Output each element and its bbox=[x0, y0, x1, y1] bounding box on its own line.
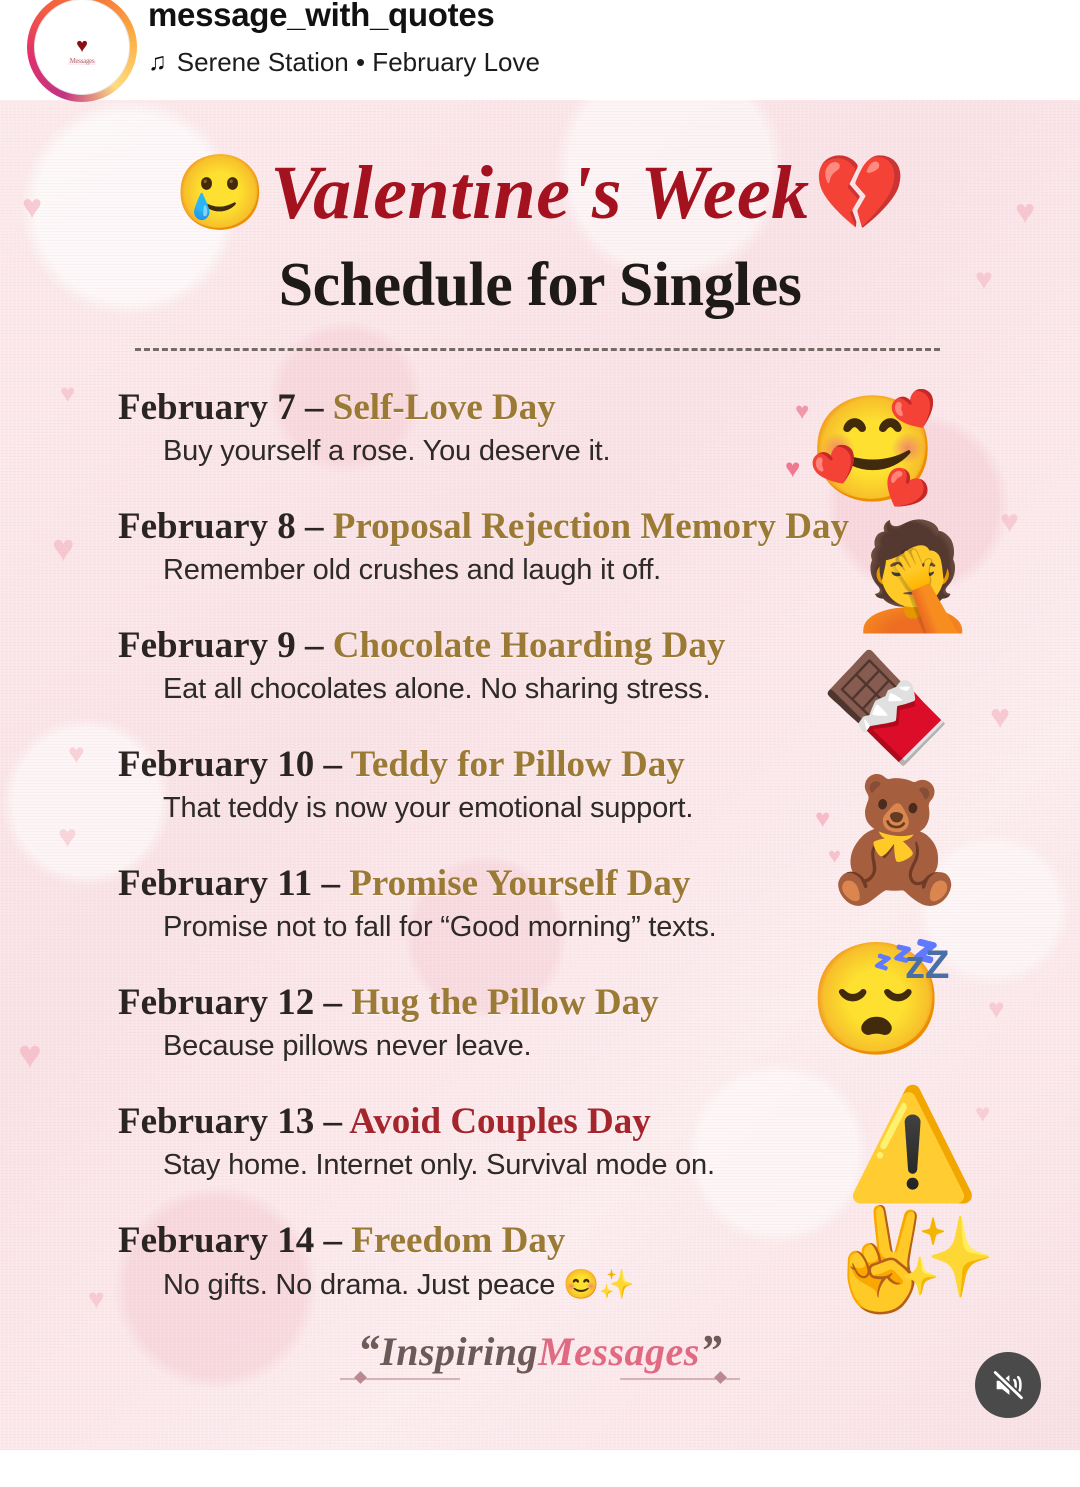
schedule-item-description: Stay home. Internet only. Survival mode … bbox=[163, 1149, 715, 1182]
schedule-item-dash: – bbox=[324, 1220, 343, 1261]
schedule-item-title: Teddy for Pillow Day bbox=[351, 744, 685, 785]
music-note-icon: ♫ bbox=[148, 50, 167, 75]
broken-heart-emoji: 💔 bbox=[814, 156, 906, 230]
brand-logo: “InspiringMessages” bbox=[358, 1325, 723, 1376]
schedule-item-dash: – bbox=[321, 863, 340, 904]
schedule-item-heading: February 9 – Chocolate Hoarding Day bbox=[118, 624, 725, 668]
avatar: ♥ Messages bbox=[34, 0, 130, 95]
schedule-item-title: Avoid Couples Day bbox=[349, 1101, 651, 1142]
schedule-item-description: Because pillows never leave. bbox=[163, 1030, 531, 1063]
schedule-item-date: February 7 bbox=[118, 387, 296, 428]
schedule-item-description: No gifts. No drama. Just peace 😊✨ bbox=[163, 1268, 635, 1302]
avatar-story-ring[interactable]: ♥ Messages bbox=[27, 0, 137, 102]
schedule-item-title: Chocolate Hoarding Day bbox=[333, 625, 726, 666]
avatar-brand-text: Messages bbox=[68, 57, 97, 65]
schedule-item-heading: February 10 – Teddy for Pillow Day bbox=[118, 743, 685, 787]
smiling-face-with-hearts-emoji: 🥰 bbox=[808, 398, 938, 502]
schedule-item-date: February 9 bbox=[118, 625, 296, 666]
schedule-item-heading: February 7 – Self-Love Day bbox=[118, 386, 556, 430]
schedule-item-heading: February 14 – Freedom Day bbox=[118, 1219, 565, 1263]
logo-word-two: Messages bbox=[538, 1329, 700, 1374]
schedule-item-description: Eat all chocolates alone. No sharing str… bbox=[163, 673, 710, 706]
post-header: ♥ Messages message_with_quotes ♫ Serene … bbox=[0, 0, 1080, 100]
schedule-item-date: February 10 bbox=[118, 744, 314, 785]
schedule-item-dash: – bbox=[324, 744, 343, 785]
schedule-item-heading: February 12 – Hug the Pillow Day bbox=[118, 981, 659, 1025]
poster-title-row: 🥲 Valentine's Week 💔 bbox=[0, 155, 1080, 231]
bottom-white-strip bbox=[0, 1450, 1080, 1487]
schedule-item-title: Promise Yourself Day bbox=[349, 863, 690, 904]
zzz-text: zZ bbox=[905, 945, 949, 985]
poster-image: ♥ ♥ ♥ ♥ ♥ ♥ ♥ ♥ ♥ ♥ ♥ ♥ ♥ ♥ ♥ ♥ ♥ 🥲 Vale… bbox=[0, 100, 1080, 1450]
audio-label: Serene Station • February Love bbox=[177, 47, 540, 78]
schedule-item-description: That teddy is now your emotional support… bbox=[163, 792, 693, 825]
logo-close-quote: ” bbox=[700, 1326, 723, 1375]
schedule-item-description: Promise not to fall for “Good morning” t… bbox=[163, 911, 717, 944]
sparkles-emoji: ✨ bbox=[898, 1218, 995, 1296]
brand-footer: “InspiringMessages” bbox=[0, 1325, 1080, 1376]
chocolate-bar-emoji: 🍫 bbox=[820, 655, 952, 761]
poster-subtitle: Schedule for Singles bbox=[0, 250, 1080, 321]
schedule-item-dash: – bbox=[324, 982, 343, 1023]
schedule-item-dash: – bbox=[305, 506, 324, 547]
logo-word-one: Inspiring bbox=[380, 1329, 538, 1374]
schedule-item-description: Buy yourself a rose. You deserve it. bbox=[163, 435, 610, 468]
person-facepalming-emoji: 🤦 bbox=[848, 525, 978, 629]
schedule-item-dash: – bbox=[324, 1101, 343, 1142]
avatar-heart-icon: ♥ bbox=[76, 36, 88, 56]
schedule-item-date: February 8 bbox=[118, 506, 296, 547]
schedule-item-title: Hug the Pillow Day bbox=[351, 982, 658, 1023]
schedule-item-date: February 11 bbox=[118, 863, 312, 904]
crying-smile-emoji: 🥲 bbox=[174, 156, 266, 230]
schedule-item-title: Self-Love Day bbox=[333, 387, 556, 428]
schedule-item-date: February 13 bbox=[118, 1101, 314, 1142]
mute-toggle-button[interactable] bbox=[975, 1352, 1041, 1418]
schedule-item-dash: – bbox=[305, 387, 324, 428]
schedule-item-date: February 12 bbox=[118, 982, 314, 1023]
schedule-item-title: Proposal Rejection Memory Day bbox=[333, 506, 849, 547]
schedule-item-dash: – bbox=[305, 625, 324, 666]
teddy-bear-emoji: 🧸 bbox=[820, 780, 969, 900]
speaker-muted-icon bbox=[991, 1368, 1025, 1402]
schedule-item-date: February 14 bbox=[118, 1220, 314, 1261]
warning-sign-emoji: ⚠️ bbox=[845, 1090, 979, 1198]
schedule-item-description: Remember old crushes and laugh it off. bbox=[163, 554, 661, 587]
schedule-item-heading: February 13 – Avoid Couples Day bbox=[118, 1100, 651, 1144]
audio-attribution[interactable]: ♫ Serene Station • February Love bbox=[148, 47, 540, 78]
title-divider bbox=[135, 348, 940, 351]
schedule-item-heading: February 8 – Proposal Rejection Memory D… bbox=[118, 505, 849, 549]
logo-open-quote: “ bbox=[358, 1326, 381, 1375]
schedule-item-heading: February 11 – Promise Yourself Day bbox=[118, 862, 690, 906]
schedule-item-title: Freedom Day bbox=[351, 1220, 565, 1261]
account-username[interactable]: message_with_quotes bbox=[148, 0, 494, 34]
poster-title-script: Valentine's Week bbox=[270, 155, 809, 231]
